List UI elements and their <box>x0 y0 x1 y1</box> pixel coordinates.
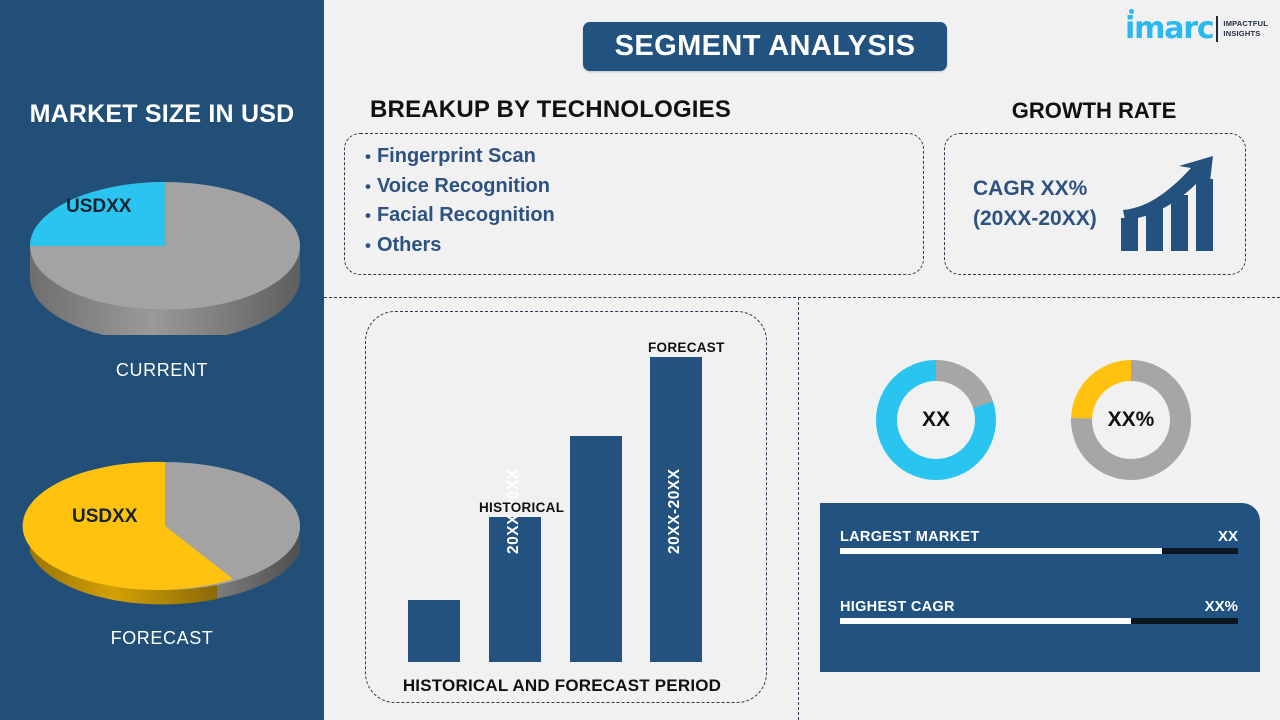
horizontal-divider <box>324 297 1280 298</box>
cagr-donut-center: XX% <box>1092 381 1170 459</box>
technology-label: Facial Recognition <box>377 204 555 226</box>
key-market-stats-panel: LARGEST MARKET XX HIGHEST CAGR XX% <box>820 503 1260 672</box>
technologies-heading: BREAKUP BY TECHNOLOGIES <box>370 96 731 124</box>
market-share-value: XX <box>922 408 950 432</box>
bullet-icon: • <box>365 236 371 255</box>
largest-market-row: LARGEST MARKET XX <box>840 528 1238 545</box>
current-pie-svg <box>20 160 310 335</box>
growth-rate-card: CAGR XX% (20XX-20XX) <box>944 133 1246 275</box>
cagr-donut-value: XX% <box>1108 408 1155 432</box>
imarc-tagline: IMPACTFUL INSIGHTS <box>1223 19 1268 39</box>
highest-cagr-progress-track <box>840 618 1238 624</box>
imarc-logo-text: imarc <box>1125 11 1213 46</box>
list-item: •Voice Recognition <box>365 172 555 202</box>
market-share-donut: XX <box>876 360 996 480</box>
forecast-market-size-pie <box>20 440 310 615</box>
cagr-donut: XX% <box>1071 360 1191 480</box>
historical-tag: HISTORICAL <box>479 500 564 515</box>
bar-3 <box>570 436 622 662</box>
market-size-title: MARKET SIZE IN USD <box>0 100 324 129</box>
highest-cagr-label: HIGHEST CAGR <box>840 599 955 615</box>
tagline-line-2: INSIGHTS <box>1223 29 1268 39</box>
current-market-size-pie <box>20 160 310 335</box>
vertical-divider <box>798 297 799 720</box>
imarc-wordmark: imarc <box>1125 14 1213 44</box>
technology-label: Others <box>377 234 441 256</box>
technologies-card: •Fingerprint Scan •Voice Recognition •Fa… <box>344 133 924 275</box>
cagr-text: CAGR XX% (20XX-20XX) <box>973 174 1097 234</box>
highest-cagr-stat: HIGHEST CAGR XX% <box>840 598 1238 624</box>
bullet-icon: • <box>365 206 371 225</box>
bullet-icon: • <box>365 147 371 166</box>
forecast-pie-svg <box>20 440 310 615</box>
imarc-logo: imarc IMPACTFUL INSIGHTS <box>1125 12 1268 46</box>
infographic-canvas: MARKET SIZE IN USD USDXX CURRENT <box>0 0 1280 720</box>
page-title: SEGMENT ANALYSIS <box>583 22 947 71</box>
bar-1 <box>408 600 460 662</box>
period-chart-caption: HISTORICAL AND FORECAST PERIOD <box>324 676 800 696</box>
historical-and-forecast-period-chart: 20XX-20XX HISTORICAL 20XX-20XX FORECAST <box>365 311 765 701</box>
growth-arrow-chart-icon <box>1117 152 1227 257</box>
cagr-period: (20XX-20XX) <box>973 204 1097 234</box>
current-pie-caption: CURRENT <box>0 360 324 381</box>
bullet-icon: • <box>365 177 371 196</box>
largest-market-progress-track <box>840 548 1238 554</box>
list-item: •Facial Recognition <box>365 201 555 231</box>
highest-cagr-value: XX% <box>1205 598 1238 615</box>
growth-rate-heading: GROWTH RATE <box>944 98 1244 124</box>
logo-divider <box>1216 16 1218 42</box>
highest-cagr-row: HIGHEST CAGR XX% <box>840 598 1238 615</box>
technology-label: Fingerprint Scan <box>377 145 536 167</box>
largest-market-label: LARGEST MARKET <box>840 529 980 545</box>
forecast-tag: FORECAST <box>648 340 725 355</box>
bar-4-period-label: 20XX-20XX <box>666 469 684 555</box>
largest-market-value: XX <box>1218 528 1238 545</box>
largest-market-stat: LARGEST MARKET XX <box>840 528 1238 554</box>
list-item: •Others <box>365 231 555 261</box>
highest-cagr-progress-fill <box>840 618 1131 624</box>
list-item: •Fingerprint Scan <box>365 142 555 172</box>
largest-market-progress-fill <box>840 548 1162 554</box>
page-title-text: SEGMENT ANALYSIS <box>615 30 916 63</box>
technology-label: Voice Recognition <box>377 175 550 197</box>
cagr-value: CAGR XX% <box>973 174 1097 204</box>
market-share-donut-center: XX <box>897 381 975 459</box>
tagline-line-1: IMPACTFUL <box>1223 19 1268 29</box>
technologies-list: •Fingerprint Scan •Voice Recognition •Fa… <box>365 142 555 260</box>
forecast-pie-caption: FORECAST <box>0 628 324 649</box>
